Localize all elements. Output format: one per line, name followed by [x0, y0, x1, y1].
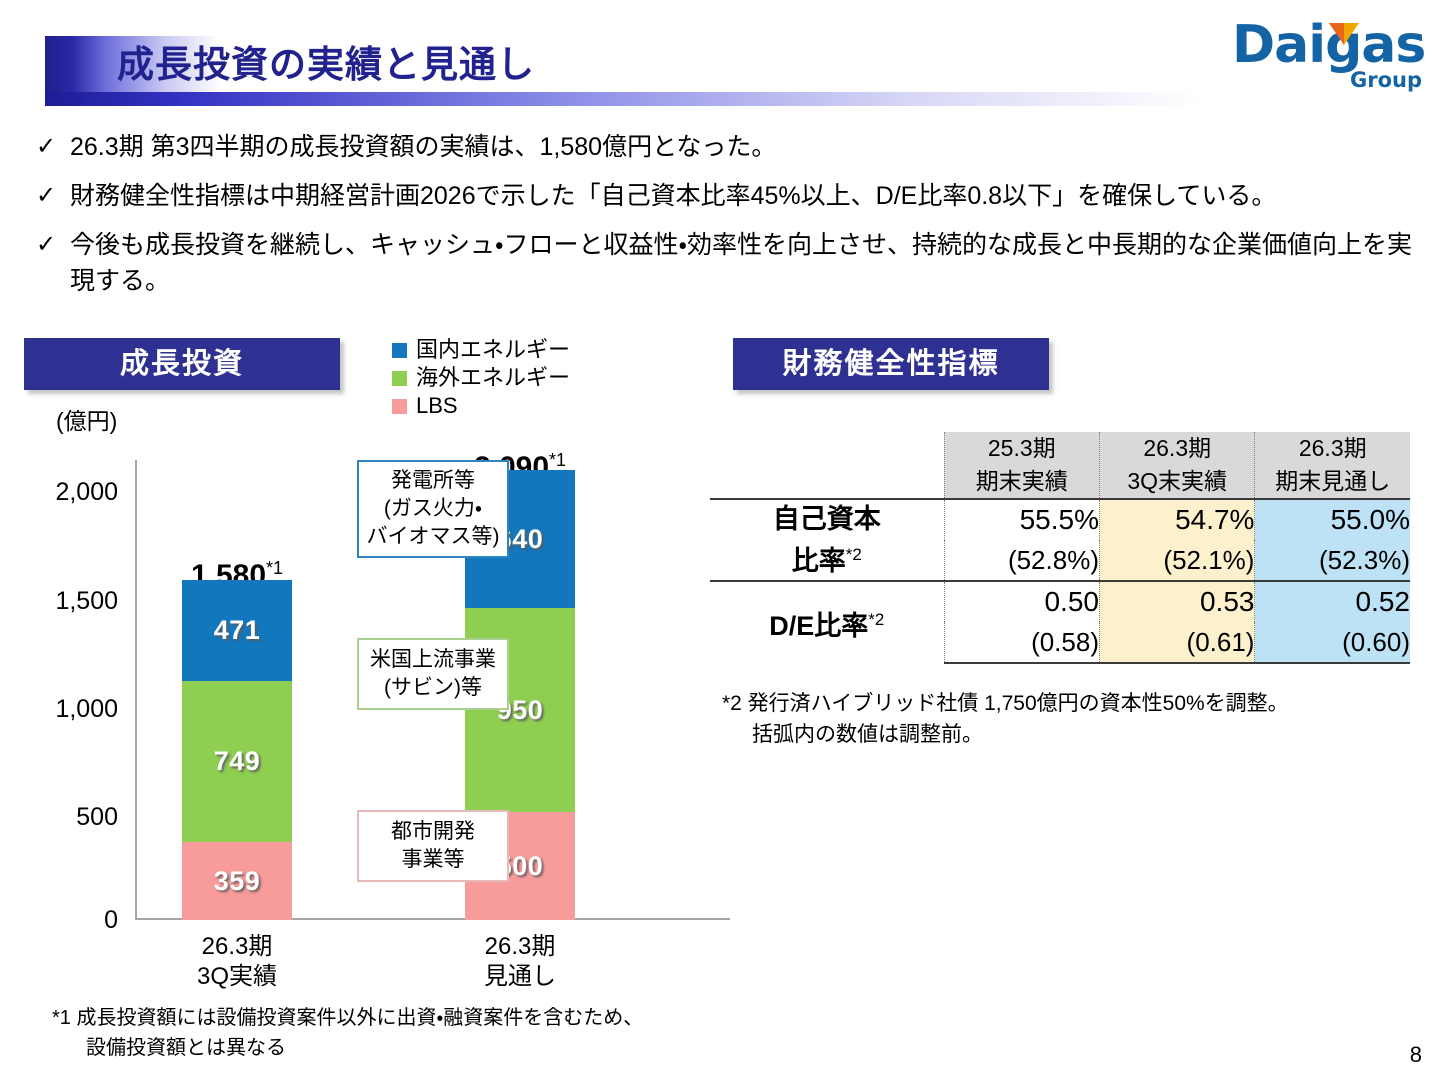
financial-soundness-heading: 財務健全性指標	[733, 338, 1049, 390]
y-tick-label: 1,500	[0, 589, 118, 614]
table-col-header-fy26-forecast: 26.3期 期末見通し	[1255, 432, 1410, 499]
y-tick-label: 0	[0, 908, 118, 933]
check-icon: ✓	[36, 227, 66, 263]
page-title: 成長投資の実績と見通し	[117, 38, 535, 92]
cell-equity-fy26q3-main: 54.7%	[1099, 499, 1254, 540]
daigas-logo: Daigas Group	[1232, 14, 1424, 98]
page-number: 8	[1410, 1042, 1422, 1068]
table-col-header-fy25-actual: 25.3期 期末実績	[944, 432, 1099, 499]
check-icon: ✓	[36, 178, 66, 214]
legend-swatch-icon	[392, 399, 407, 414]
table-col-header-fy26-3q-actual: 26.3期 3Q末実績	[1099, 432, 1254, 499]
bar-segment-lbs: 359	[182, 842, 292, 920]
legend-item-overseas-energy: 海外エネルギー	[392, 364, 570, 392]
bar-segment-overseas-energy: 749	[182, 681, 292, 842]
row-label-line1: D/E比率	[769, 611, 868, 641]
cell-de-fy26fc-sub: (0.60)	[1255, 622, 1410, 663]
callout-line: 発電所等	[391, 469, 475, 492]
x-category-line1: 26.3期	[202, 933, 273, 960]
table-row: D/E比率*2 0.50 0.53 0.52	[710, 581, 1410, 622]
x-category-label-3q-actual: 26.3期 3Q実績	[122, 932, 352, 992]
bar-segment-domestic-energy: 471	[182, 580, 292, 681]
title-gradient-underline	[45, 92, 1200, 106]
row-label-line2: 比率	[792, 546, 846, 576]
callout-urban-development: 都市開発 事業等	[357, 810, 509, 882]
x-category-line2: 見通し	[484, 963, 556, 990]
stacked-bar-chart: 2,000 1,500 1,000 500 0 1,580*1 471 749 …	[135, 460, 730, 922]
bar-segment-value: 471	[214, 615, 261, 646]
legend-swatch-icon	[392, 371, 407, 386]
financial-soundness-table: 25.3期 期末実績 26.3期 3Q末実績 26.3期 期末見通し 自己資本 …	[710, 432, 1410, 664]
cell-equity-fy26fc-sub: (52.3%)	[1255, 540, 1410, 581]
table-corner-blank	[710, 432, 944, 499]
x-category-line1: 26.3期	[485, 933, 556, 960]
callout-line: 都市開発	[391, 820, 475, 843]
growth-investment-heading-box: 成長投資	[24, 338, 340, 390]
legend-item-lbs: LBS	[392, 392, 570, 420]
row-label-footnote: *2	[868, 610, 884, 629]
col-header-line1: 25.3期	[988, 435, 1056, 461]
bar-segment-value: 749	[214, 746, 261, 777]
col-header-line2: 期末実績	[976, 468, 1068, 494]
logo-subtext: Group	[1350, 69, 1422, 91]
financial-footnote-line2: 括弧内の数値は調整前。	[752, 719, 1382, 750]
callout-power-plants: 発電所等 (ガス火力・ バイオマス等)	[357, 460, 509, 558]
y-axis	[135, 460, 137, 920]
chart-footnote-line2: 設備投資額とは異なる	[86, 1033, 752, 1063]
cell-de-fy26q3-main: 0.53	[1099, 581, 1254, 622]
row-label-footnote: *2	[846, 545, 862, 564]
financial-footnote-line1: *2 発行済ハイブリッド社債 1,750億円の資本性50%を調整。	[722, 692, 1289, 715]
chart-footnote-line1: *1 成長投資額には設備投資案件以外に出資・融資案件を含むため、	[52, 1007, 643, 1029]
financial-soundness-heading-box: 財務健全性指標	[733, 338, 1049, 390]
bullet-item: ✓ 今後も成長投資を継続し、キャッシュ・フローと収益性・効率性を向上させ、持続的…	[36, 227, 1426, 299]
col-header-line1: 26.3期	[1143, 435, 1211, 461]
y-tick-label: 2,000	[0, 480, 118, 505]
callout-line: 米国上流事業	[370, 648, 496, 671]
col-header-line2: 期末見通し	[1275, 468, 1390, 494]
chart-unit-label: (億円)	[56, 406, 117, 436]
daigas-triangle-icon	[1329, 23, 1359, 50]
row-label-line1: 自己資本	[773, 504, 881, 534]
cell-equity-fy25-sub: (52.8%)	[944, 540, 1099, 581]
legend-item-domestic-energy: 国内エネルギー	[392, 336, 570, 364]
col-header-line1: 26.3期	[1299, 435, 1367, 461]
legend-swatch-icon	[392, 343, 407, 358]
callout-line: (サビン)等	[384, 676, 482, 699]
legend-label: 海外エネルギー	[416, 365, 570, 390]
x-category-label-forecast: 26.3期 見通し	[405, 932, 635, 992]
col-header-line2: 3Q末実績	[1127, 468, 1227, 494]
bullet-text: 26.3期 第3四半期の成長投資額の実績は、1,580億円となった。	[70, 129, 1426, 165]
legend-label: LBS	[416, 393, 458, 418]
bar-total-footnote: *1	[266, 558, 283, 578]
table-header-row: 25.3期 期末実績 26.3期 3Q末実績 26.3期 期末見通し	[710, 432, 1410, 499]
slide-title-bar: 成長投資の実績と見通し	[45, 36, 1200, 108]
cell-de-fy25-main: 0.50	[944, 581, 1099, 622]
check-icon: ✓	[36, 129, 66, 165]
growth-investment-heading: 成長投資	[24, 338, 340, 390]
y-tick-label: 1,000	[0, 697, 118, 722]
callout-line: 事業等	[402, 848, 465, 871]
cell-equity-fy25-main: 55.5%	[944, 499, 1099, 540]
bullet-item: ✓ 財務健全性指標は中期経営計画2026で示した「自己資本比率45%以上、D/E…	[36, 178, 1426, 214]
bullet-item: ✓ 26.3期 第3四半期の成長投資額の実績は、1,580億円となった。	[36, 129, 1426, 165]
cell-de-fy26fc-main: 0.52	[1255, 581, 1410, 622]
financial-table-footnote: *2 発行済ハイブリッド社債 1,750億円の資本性50%を調整。 括弧内の数値…	[722, 688, 1382, 750]
bar-column-3q-actual: 471 749 359	[182, 580, 292, 920]
callout-line: バイオマス等)	[367, 525, 500, 548]
bar-segment-value: 359	[214, 866, 261, 897]
chart-footnote: *1 成長投資額には設備投資案件以外に出資・融資案件を含むため、 設備投資額とは…	[52, 1003, 752, 1063]
chart-legend: 国内エネルギー 海外エネルギー LBS	[392, 336, 570, 420]
bullet-text: 今後も成長投資を継続し、キャッシュ・フローと収益性・効率性を向上させ、持続的な成…	[70, 227, 1426, 299]
cell-equity-fy26q3-sub: (52.1%)	[1099, 540, 1254, 581]
callout-us-upstream: 米国上流事業 (サビン)等	[357, 638, 509, 710]
cell-de-fy26q3-sub: (0.61)	[1099, 622, 1254, 663]
row-label-de-ratio: D/E比率*2	[710, 581, 944, 663]
bullet-text: 財務健全性指標は中期経営計画2026で示した「自己資本比率45%以上、D/E比率…	[70, 178, 1426, 214]
cell-equity-fy26fc-main: 55.0%	[1255, 499, 1410, 540]
legend-label: 国内エネルギー	[416, 337, 570, 362]
callout-line: (ガス火力・	[384, 497, 482, 520]
x-category-line2: 3Q実績	[197, 963, 277, 990]
row-label-equity-ratio: 自己資本 比率*2	[710, 499, 944, 581]
table-row: 自己資本 比率*2 55.5% 54.7% 55.0%	[710, 499, 1410, 540]
bar-total-footnote: *1	[549, 450, 566, 470]
cell-de-fy25-sub: (0.58)	[944, 622, 1099, 663]
y-tick-label: 500	[0, 805, 118, 830]
